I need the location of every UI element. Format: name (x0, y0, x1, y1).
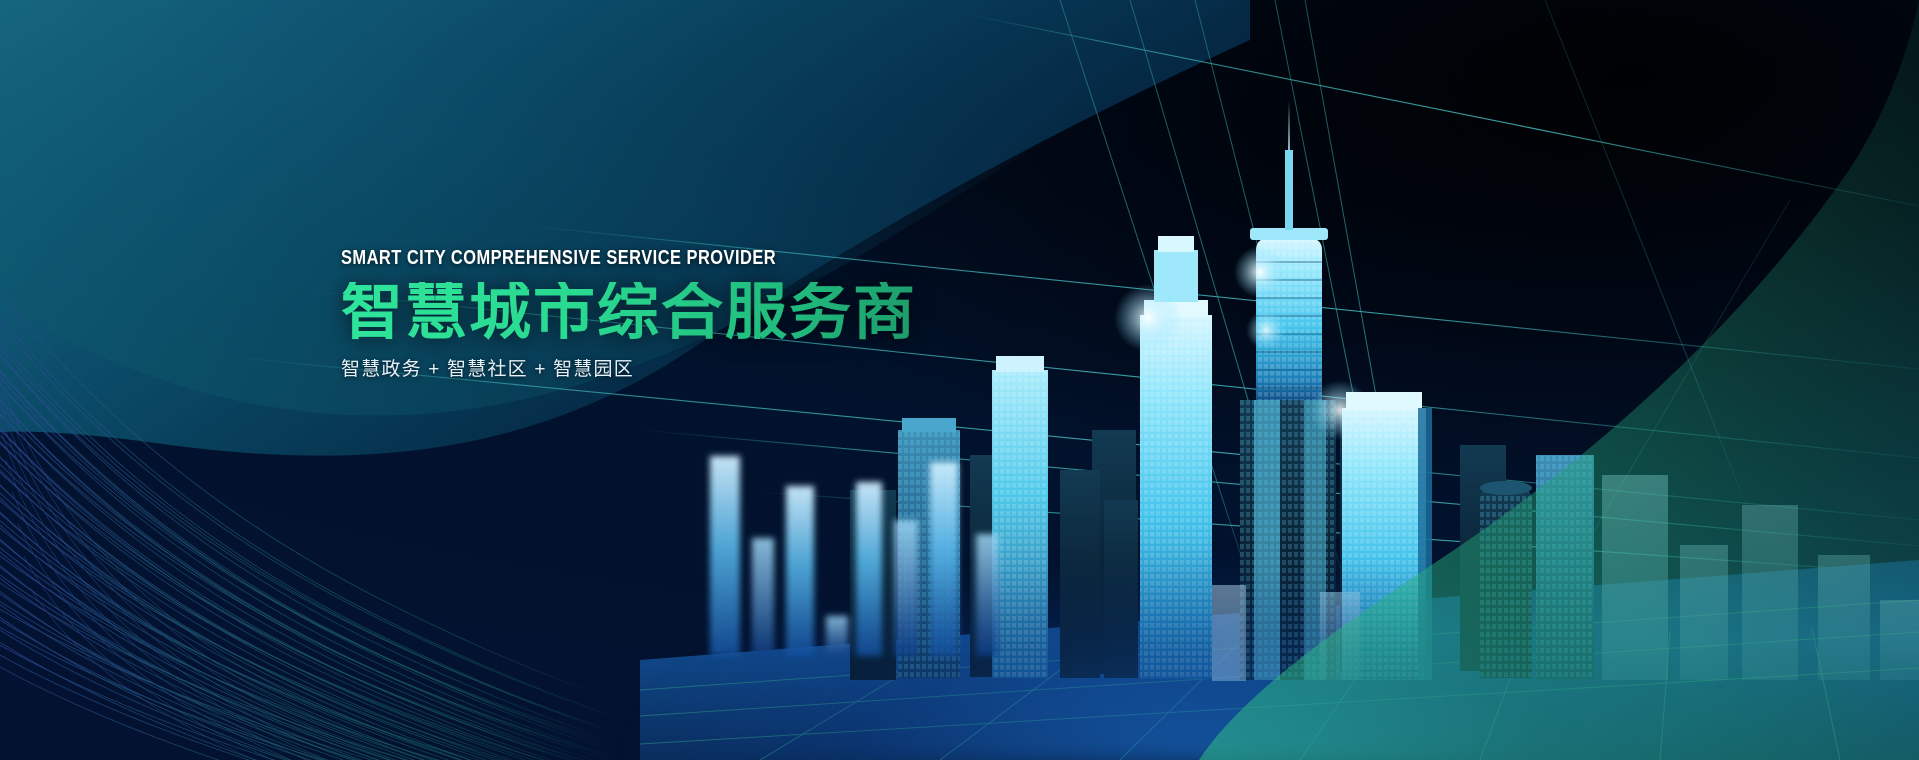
hero-eyebrow: SMART CITY COMPREHENSIVE SERVICE PROVIDE… (341, 248, 964, 268)
green-gradient-overlay (1199, 0, 1919, 760)
hero-subline: 智慧政务 + 智慧社区 + 智慧园区 (341, 360, 1101, 379)
smart-city-hero-banner: SMART CITY COMPREHENSIVE SERVICE PROVIDE… (0, 0, 1919, 760)
hero-text-block: SMART CITY COMPREHENSIVE SERVICE PROVIDE… (341, 248, 1101, 379)
hero-headline: 智慧城市综合服务商 (341, 282, 1101, 344)
